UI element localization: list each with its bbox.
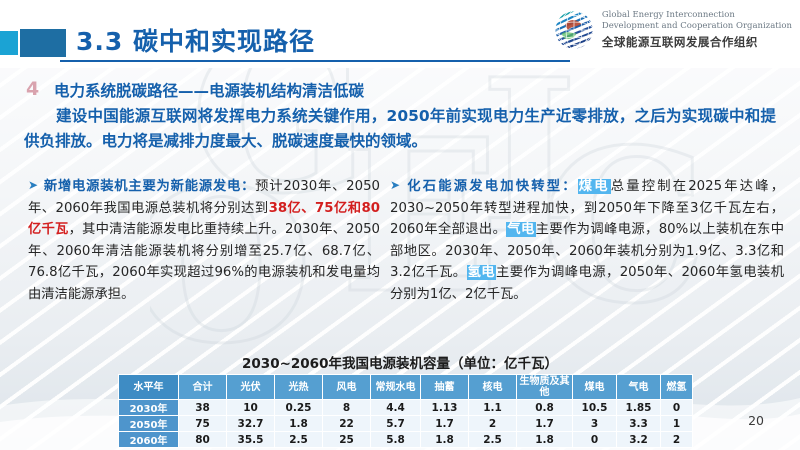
table-header-cell: 核电 [469,375,517,400]
table-cell: 5.7 [371,416,421,432]
table-row-label: 2050年 [119,416,179,432]
arrow-bullet-icon: ➤ [28,178,38,192]
globe-logo-icon [552,8,596,52]
table-cell: 32.7 [227,416,275,432]
table-cell: 3.3 [617,416,661,432]
table-row: 2060年 80 35.5 2.5 25 5.8 1.8 2.5 1.8 0 3… [119,432,693,448]
table-caption: 2030~2060年我国电源装机容量（单位：亿千瓦） [0,352,800,372]
right-keyword-gas: 气电 [506,222,535,237]
logo-text-block: Global Energy Interconnection Developmen… [602,10,792,50]
table-cell: 1.13 [421,400,469,416]
table-cell: 3.2 [617,432,661,448]
arrow-bullet-icon: ➤ [390,178,400,192]
right-column-lead: 化石能源发电加快转型： [405,179,578,194]
table-cell: 2.5 [469,432,517,448]
table-cell: 2 [661,432,693,448]
table-cell: 3 [573,416,617,432]
table-cell: 0.8 [517,400,573,416]
table-header-cell: 气电 [617,375,661,400]
table-cell: 1.8 [421,432,469,448]
table-header-cell: 煤电 [573,375,617,400]
logo-chinese-name: 全球能源互联网发展合作组织 [602,34,792,50]
table-cell: 1.7 [421,416,469,432]
table-cell: 25 [323,432,371,448]
table-cell: 1.85 [617,400,661,416]
capacity-table-wrapper: 水平年 合计 光伏 光热 风电 常规水电 抽蓄 核电 生物质及其他 煤电 气电 … [118,374,692,448]
left-column-lead: 新增电源装机主要为新能源发电： [43,179,255,194]
left-text-column: ➤新增电源装机主要为新能源发电：预计2030年、2050年、2060年我国电源总… [28,176,380,306]
table-header-cell: 光伏 [227,375,275,400]
table-header-cell: 合计 [179,375,227,400]
table-cell: 10.5 [573,400,617,416]
table-cell: 1.1 [469,400,517,416]
logo-english-line1: Global Energy Interconnection [602,10,792,21]
table-header-cell: 燃氢 [661,375,693,400]
table-cell: 2.5 [275,432,323,448]
page-title: 3.3 碳中和实现路径 [76,22,315,58]
table-cell: 35.5 [227,432,275,448]
table-cell: 0 [573,432,617,448]
table-row-label: 2060年 [119,432,179,448]
slide-header: 3.3 碳中和实现路径 [0,0,800,68]
header-accent-square-light [0,31,18,55]
table-cell: 75 [179,416,227,432]
slide-canvas: G E I C O 3.3 碳中和实现路径 [0,0,800,450]
table-row: 2050年 75 32.7 1.8 22 5.7 1.7 2 1.7 3 3.3… [119,416,693,432]
table-header-cell: 光热 [275,375,323,400]
table-cell: 2 [469,416,517,432]
right-keyword-coal: 煤电 [578,179,611,194]
table-cell: 1.7 [517,416,573,432]
table-cell: 1.8 [275,416,323,432]
table-cell: 10 [227,400,275,416]
table-cell: 5.8 [371,432,421,448]
table-header-row: 水平年 合计 光伏 光热 风电 常规水电 抽蓄 核电 生物质及其他 煤电 气电 … [119,375,693,400]
table-cell: 1.8 [517,432,573,448]
section-number-marker: 4 [26,78,39,100]
table-row: 2030年 38 10 0.25 8 4.4 1.13 1.1 0.8 10.5… [119,400,693,416]
table-cell: 80 [179,432,227,448]
right-text-column: ➤化石能源发电加快转型：煤电总量控制在2025年达峰，2030~2050年转型进… [390,176,784,306]
header-accent-square-dark [20,29,66,57]
table-cell: 0.25 [275,400,323,416]
table-cell: 38 [179,400,227,416]
organization-logo: Global Energy Interconnection Developmen… [552,8,792,52]
title-underline [60,60,570,62]
capacity-table: 水平年 合计 光伏 光热 风电 常规水电 抽蓄 核电 生物质及其他 煤电 气电 … [118,374,693,448]
table-cell: 22 [323,416,371,432]
right-keyword-hydrogen: 氢电 [467,265,496,280]
page-number: 20 [748,413,764,428]
intro-heading: 电力系统脱碳路径——电源装机结构清洁低碳 [54,79,364,101]
table-header-cell: 风电 [323,375,371,400]
table-cell: 8 [323,400,371,416]
table-header-cell: 生物质及其他 [517,375,573,400]
table-cell: 1 [661,416,693,432]
table-header-cell: 水平年 [119,375,179,400]
table-cell: 0 [661,400,693,416]
table-row-label: 2030年 [119,400,179,416]
intro-body-text: 建设中国能源互联网将发挥电力系统关键作用，2050年前实现电力生产近零排放，之后… [24,104,776,154]
left-column-part2: ，其中清洁能源发电比重持续上升。2030年、2050年、2060年清洁能源装机将… [28,222,380,302]
table-cell: 4.4 [371,400,421,416]
logo-english-line2: Development and Cooperation Organization [602,21,792,32]
table-header-cell: 抽蓄 [421,375,469,400]
table-header-cell: 常规水电 [371,375,421,400]
